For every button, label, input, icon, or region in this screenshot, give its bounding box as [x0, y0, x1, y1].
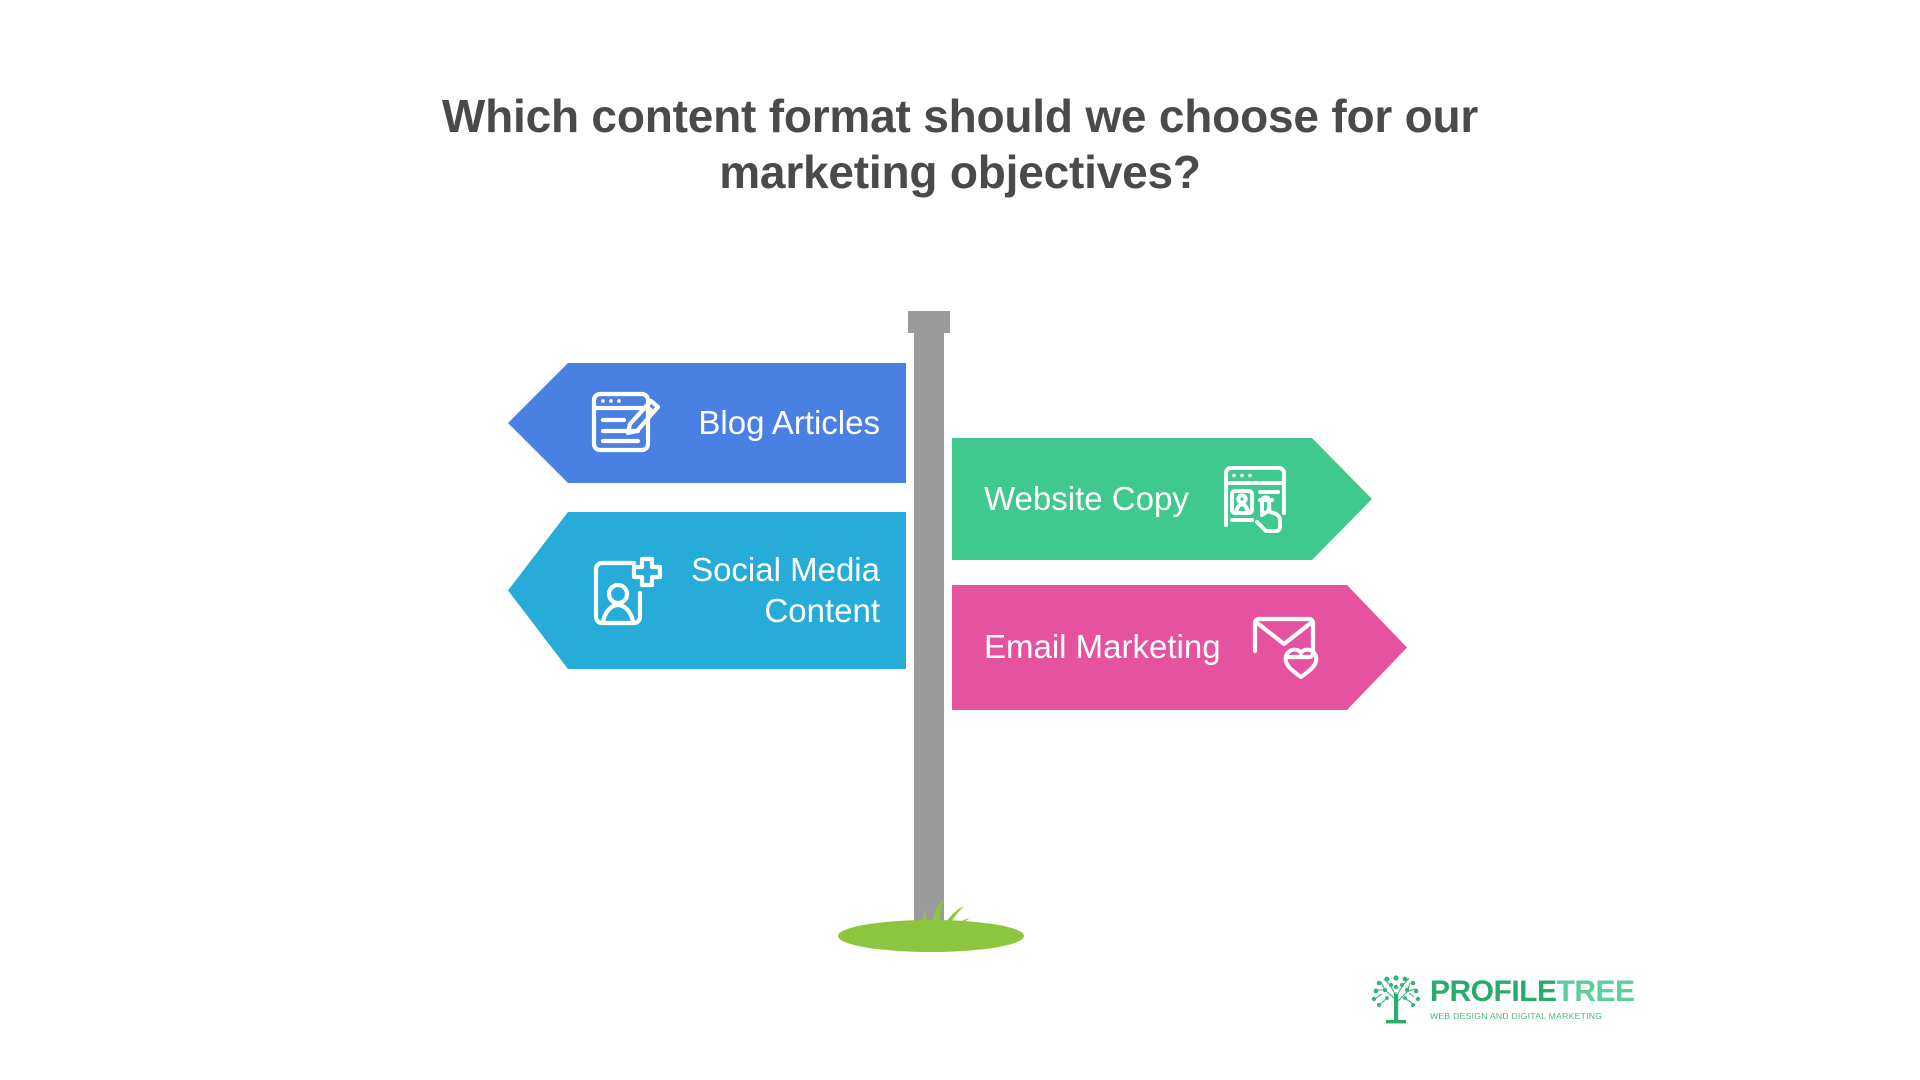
signpost-cap: [908, 311, 950, 333]
signpost-shaft: [914, 333, 944, 928]
logo-name-light: TREE: [1557, 975, 1635, 1008]
page-title: Which content format should we choose fo…: [360, 88, 1560, 200]
grass-icon: [836, 898, 1026, 960]
blog-pencil-icon: [590, 388, 662, 458]
sign-website-copy[interactable]: Website Copy: [952, 438, 1372, 560]
profiletree-logo: PROFILETREE WEB DESIGN AND DIGITAL MARKE…: [1368, 968, 1600, 1030]
browser-click-icon: [1218, 463, 1292, 535]
user-add-card-icon: [590, 553, 662, 629]
sign-label-blog-articles: Blog Articles: [684, 403, 880, 443]
sign-label-email-marketing: Email Marketing: [984, 627, 1231, 667]
logo-tagline: WEB DESIGN AND DIGITAL MARKETING: [1430, 1011, 1635, 1021]
logo-name-bold: PROFILE: [1430, 975, 1557, 1008]
title-line-1: Which content format should we choose fo…: [360, 88, 1560, 144]
sign-label-website-copy: Website Copy: [984, 479, 1200, 519]
tree-logo-icon: [1368, 970, 1424, 1028]
sign-blog-articles[interactable]: Blog Articles: [508, 363, 906, 483]
title-line-2: marketing objectives?: [360, 144, 1560, 200]
infographic-canvas: Which content format should we choose fo…: [0, 0, 1920, 1080]
sign-social-media-content[interactable]: Social Media Content: [508, 512, 906, 669]
envelope-heart-icon: [1249, 611, 1327, 685]
logo-wordmark: PROFILETREE: [1430, 977, 1635, 1007]
sign-label-social-media-content: Social Media Content: [684, 550, 880, 631]
sign-email-marketing[interactable]: Email Marketing: [952, 585, 1407, 710]
